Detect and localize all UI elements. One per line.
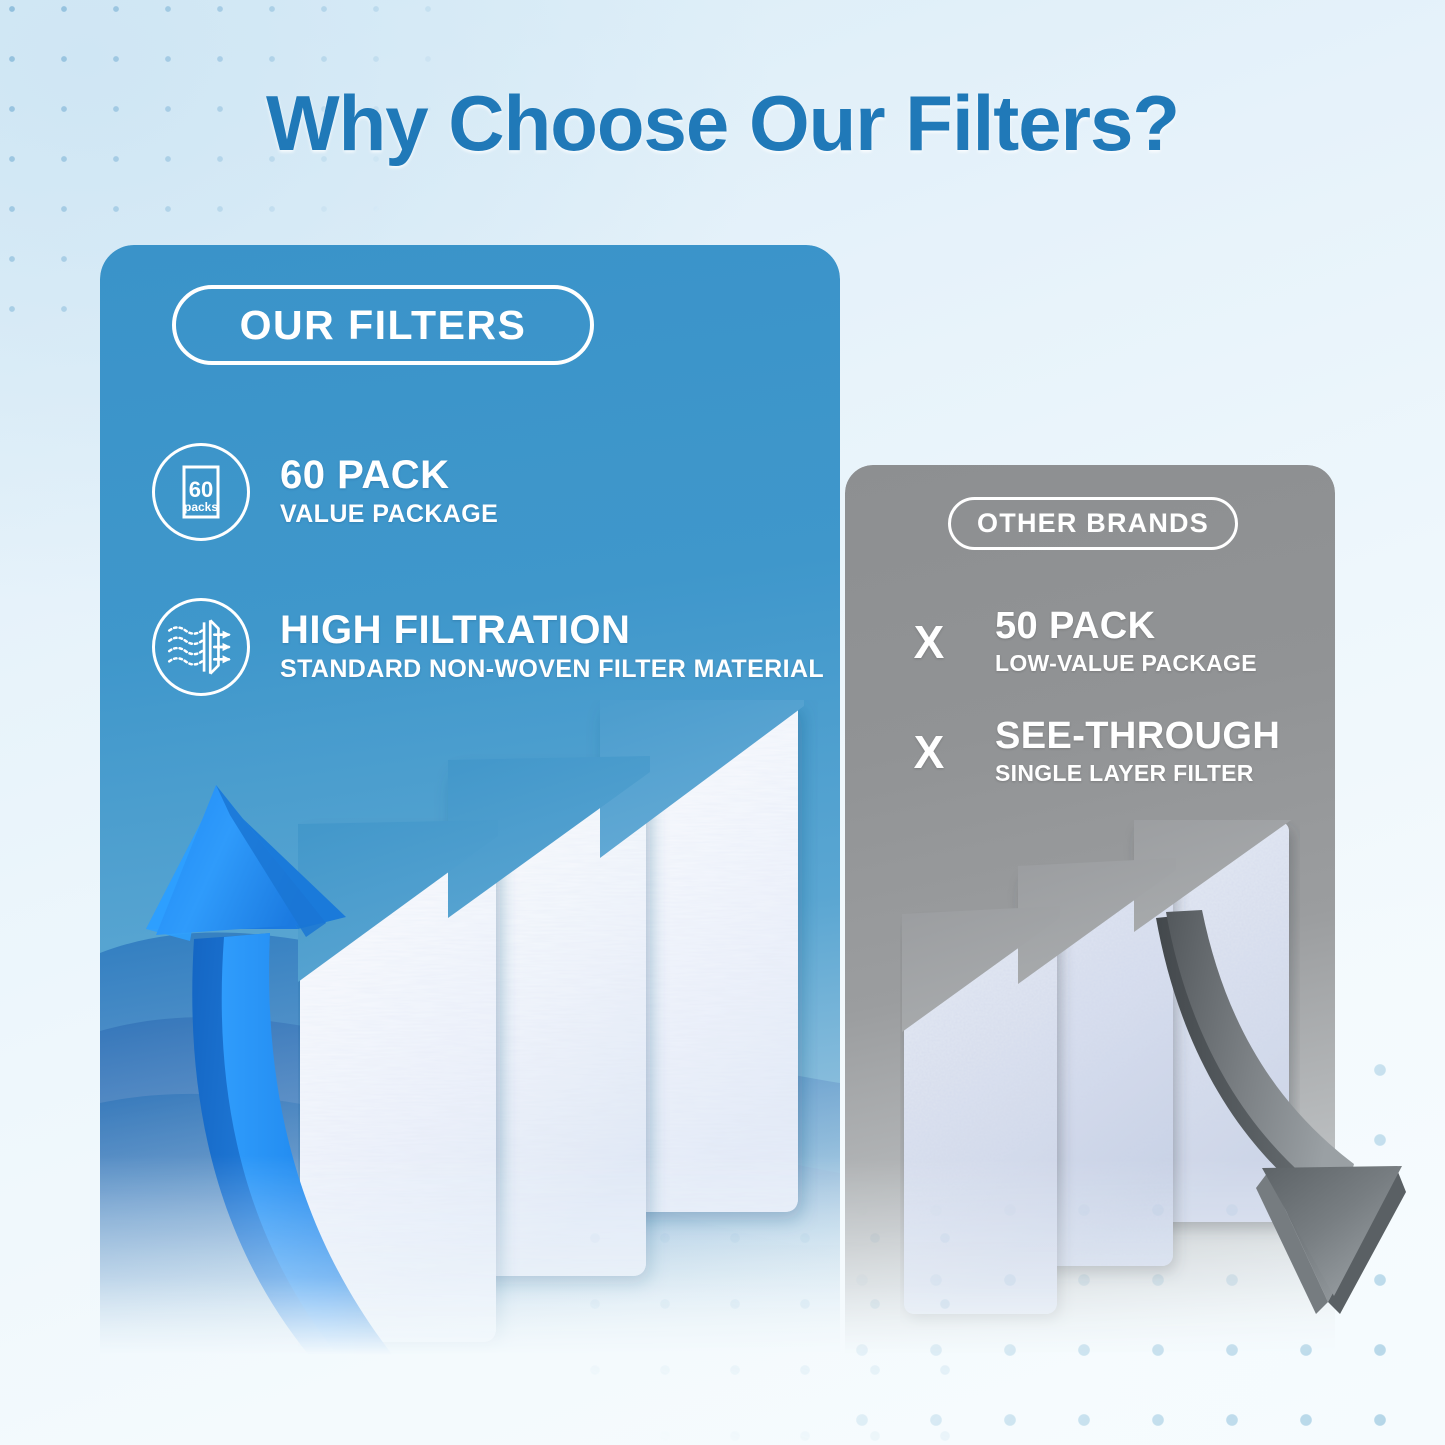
x-mark-icon: X <box>903 729 955 775</box>
con-subtext: SINGLE LAYER FILTER <box>995 760 1280 787</box>
svg-text:packs: packs <box>184 500 218 514</box>
infographic-canvas: Why Choose Our Filters? <box>0 0 1445 1445</box>
feature-row-high-filtration: HIGH FILTRATION STANDARD NON-WOVEN FILTE… <box>152 598 824 696</box>
con-subtext: LOW-VALUE PACKAGE <box>995 650 1257 677</box>
feature-heading: HIGH FILTRATION <box>280 610 824 651</box>
filter-sheet-angle-cuts-other <box>900 820 1300 1330</box>
sixty-packs-box-icon: 60 packs <box>152 443 250 541</box>
other-brands-badge: OTHER BRANDS <box>948 497 1238 550</box>
our-filters-badge: OUR FILTERS <box>172 285 594 365</box>
feature-row-60-pack: 60 packs 60 PACK VALUE PACKAGE <box>152 443 498 541</box>
svg-text:60: 60 <box>189 477 213 502</box>
feature-subtext: VALUE PACKAGE <box>280 500 498 529</box>
con-heading: 50 PACK <box>995 607 1257 646</box>
page-title: Why Choose Our Filters? <box>0 78 1445 169</box>
filter-sheet-angle-cuts <box>298 700 818 1355</box>
con-heading: SEE-THROUGH <box>995 717 1280 756</box>
other-brands-badge-label: OTHER BRANDS <box>977 508 1209 539</box>
our-filters-badge-label: OUR FILTERS <box>240 302 527 349</box>
our-filters-panel <box>100 245 840 1355</box>
feature-subtext: STANDARD NON-WOVEN FILTER MATERIAL <box>280 655 824 684</box>
con-row-50-pack: X 50 PACK LOW-VALUE PACKAGE <box>903 607 1257 677</box>
x-mark-icon: X <box>903 619 955 665</box>
airflow-filtration-icon <box>152 598 250 696</box>
feature-heading: 60 PACK <box>280 455 498 496</box>
other-brands-panel: OTHER BRANDS X 50 PACK LOW-VALUE PACKAGE… <box>845 465 1335 1355</box>
con-row-see-through: X SEE-THROUGH SINGLE LAYER FILTER <box>903 717 1280 787</box>
